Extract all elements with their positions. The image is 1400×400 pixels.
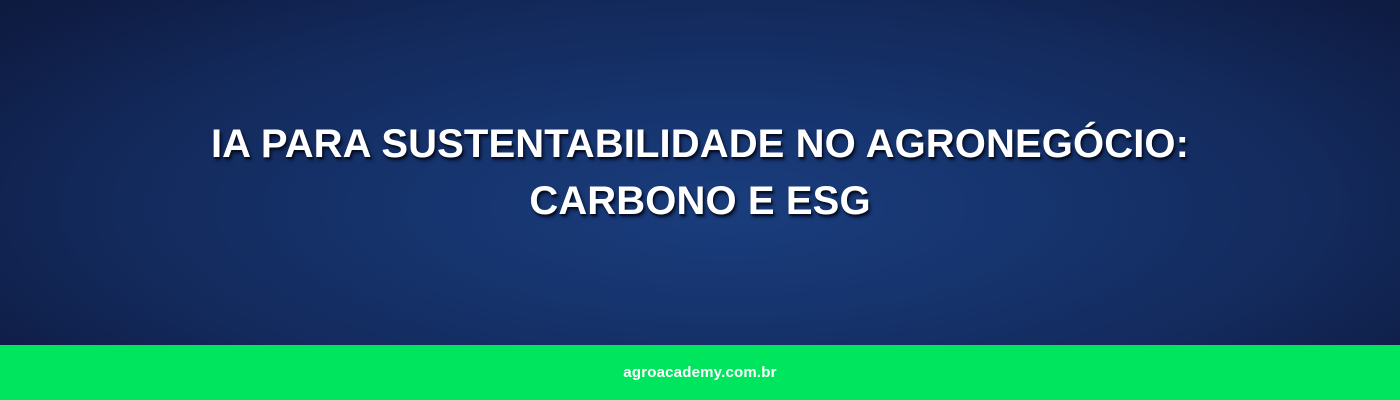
page-title: IA para Sustentabilidade no Agronegócio:… — [108, 116, 1292, 230]
banner-title-container: IA para Sustentabilidade no Agronegócio:… — [0, 0, 1400, 345]
course-title-banner: IA para Sustentabilidade no Agronegócio:… — [0, 0, 1400, 400]
footer-bar: agroacademy.com.br — [0, 345, 1400, 400]
website-url-label: agroacademy.com.br — [623, 365, 776, 380]
